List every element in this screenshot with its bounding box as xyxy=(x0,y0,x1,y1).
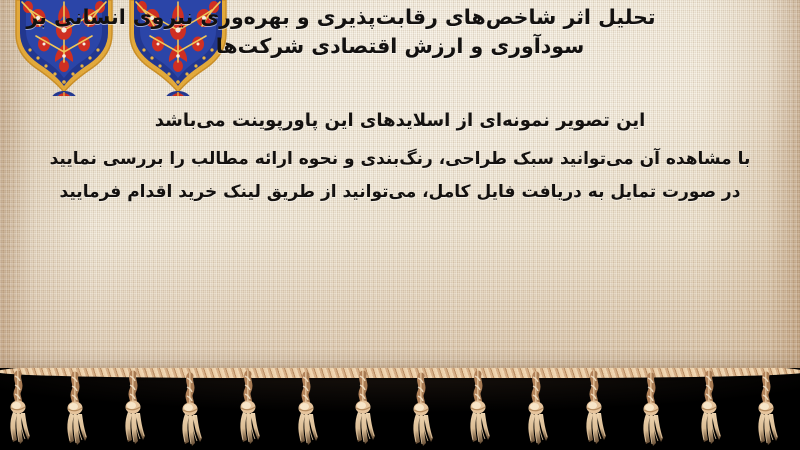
tassel xyxy=(701,374,721,444)
tassel xyxy=(240,374,260,444)
slide-title: تحلیل اثر شاخص‌های رقابت‌پذیری و بهره‌ور… xyxy=(0,3,800,61)
tassel xyxy=(67,375,87,445)
tassel xyxy=(125,374,145,444)
fringe-tassels xyxy=(0,368,800,450)
tassel xyxy=(413,376,433,446)
slide-canvas: تحلیل اثر شاخص‌های رقابت‌پذیری و بهره‌ور… xyxy=(0,0,800,450)
tassel xyxy=(10,374,30,444)
slide-text-layer: تحلیل اثر شاخص‌های رقابت‌پذیری و بهره‌ور… xyxy=(0,0,800,380)
tassel xyxy=(528,375,548,445)
body-line-2: با مشاهده آن می‌توانید سبک طراحی، رنگ‌بن… xyxy=(18,147,782,171)
tassel xyxy=(355,374,375,444)
tassel xyxy=(643,376,663,446)
carpet-fringe-area xyxy=(0,368,800,450)
slide-title-line-2: سودآوری و ارزش اقتصادی شرکت‌ها xyxy=(14,32,786,61)
tassel xyxy=(758,375,778,445)
tassel xyxy=(298,375,318,445)
tassel xyxy=(182,376,202,446)
slide-title-line-1: تحلیل اثر شاخص‌های رقابت‌پذیری و بهره‌ور… xyxy=(14,3,668,32)
body-line-3: در صورت تمایل به دریافت فایل کامل، می‌تو… xyxy=(18,180,782,204)
slide-body: این تصویر نمونه‌ای از اسلایدهای این پاور… xyxy=(0,108,800,213)
body-line-1: این تصویر نمونه‌ای از اسلایدهای این پاور… xyxy=(18,108,782,134)
tassel xyxy=(470,374,490,444)
tassel xyxy=(586,374,606,444)
